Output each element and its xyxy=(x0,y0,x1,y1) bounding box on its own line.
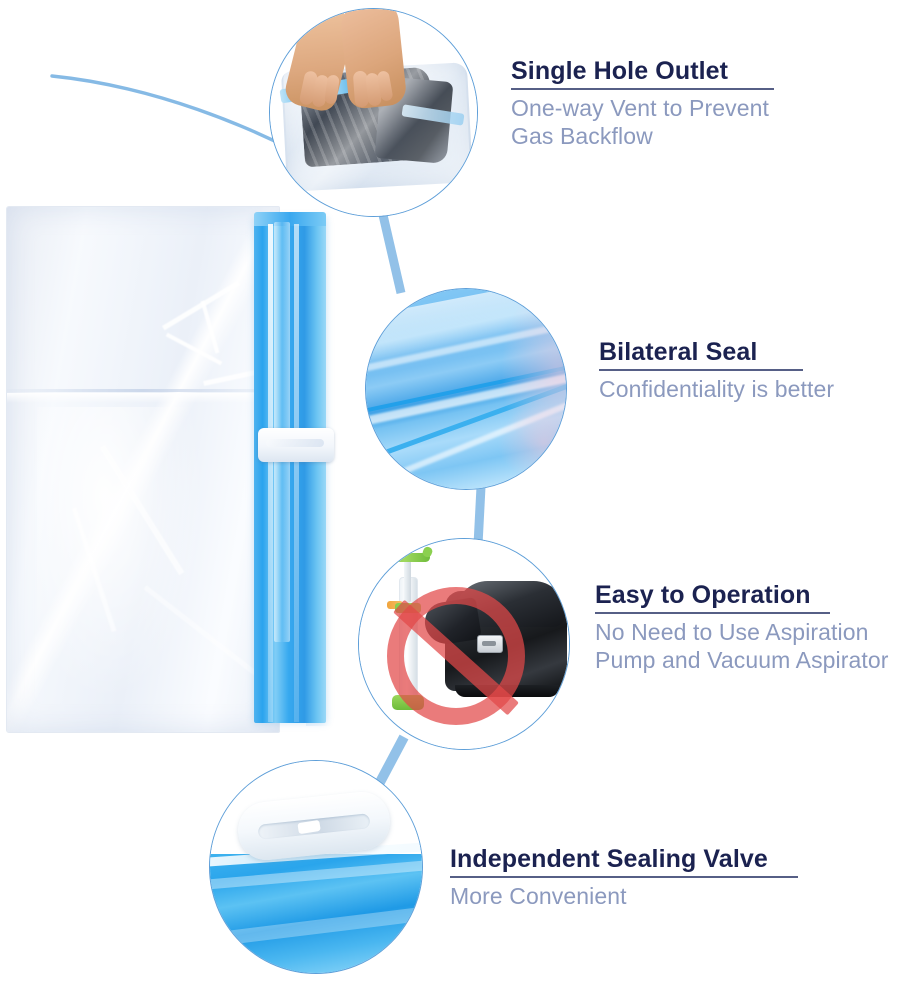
feature-photo-bilateral-seal xyxy=(365,288,567,490)
pink-reflection xyxy=(496,403,567,483)
bag-crinkle xyxy=(201,300,220,353)
hand-pump-handle xyxy=(384,553,430,562)
product-photo xyxy=(6,206,336,731)
feature-subtitle-line: One-way Vent to Prevent xyxy=(511,94,774,123)
zipper-rail xyxy=(294,224,299,722)
feature-title: Bilateral Seal xyxy=(599,338,834,366)
zipper-rail xyxy=(268,224,273,722)
feature-photo-easy-to-operation xyxy=(358,538,570,750)
feature-photo-independent-sealing-valve xyxy=(209,760,423,974)
bag-sheen xyxy=(37,407,207,707)
blue-bag-film xyxy=(209,854,423,974)
feature-title: Easy to Operation xyxy=(595,581,889,609)
title-underline xyxy=(511,88,774,90)
title-underline xyxy=(599,369,803,371)
feature-text-bilateral-seal: Bilateral Seal Confidentiality is better xyxy=(599,338,834,403)
feature-text-independent-sealing-valve: Independent Sealing Valve More Convenien… xyxy=(450,845,798,910)
bag-body xyxy=(6,206,280,733)
photo-inner xyxy=(359,539,569,749)
connector-1-2 xyxy=(383,215,401,293)
feature-title: Single Hole Outlet xyxy=(511,57,774,85)
feature-subtitle-line: Gas Backflow xyxy=(511,122,774,151)
photo-inner xyxy=(270,9,477,216)
connector-2-3 xyxy=(478,487,481,545)
bag-fold-highlight xyxy=(7,393,279,403)
feature-subtitle-line: Pump and Vacuum Aspirator xyxy=(595,646,889,675)
feature-subtitle-line: No Need to Use Aspiration xyxy=(595,618,889,647)
title-underline xyxy=(595,612,830,614)
feature-subtitle-line: More Convenient xyxy=(450,882,798,911)
infographic-canvas: Single Hole Outlet One-way Vent to Preve… xyxy=(0,0,916,981)
bag-fold-line xyxy=(7,389,279,392)
zipper-strip xyxy=(254,218,326,723)
bag-crinkle xyxy=(203,369,261,386)
slider-clip xyxy=(258,428,334,462)
hand-pump-rod xyxy=(404,559,411,603)
title-underline xyxy=(450,876,798,878)
photo-inner xyxy=(366,289,566,489)
feature-title: Independent Sealing Valve xyxy=(450,845,798,873)
feature-photo-single-hole-outlet xyxy=(269,8,478,217)
photo-inner xyxy=(210,761,422,973)
feature-text-easy-to-operation: Easy to Operation No Need to Use Aspirat… xyxy=(595,581,889,675)
feature-text-single-hole-outlet: Single Hole Outlet One-way Vent to Preve… xyxy=(511,57,774,151)
feature-subtitle-line: Confidentiality is better xyxy=(599,375,834,404)
